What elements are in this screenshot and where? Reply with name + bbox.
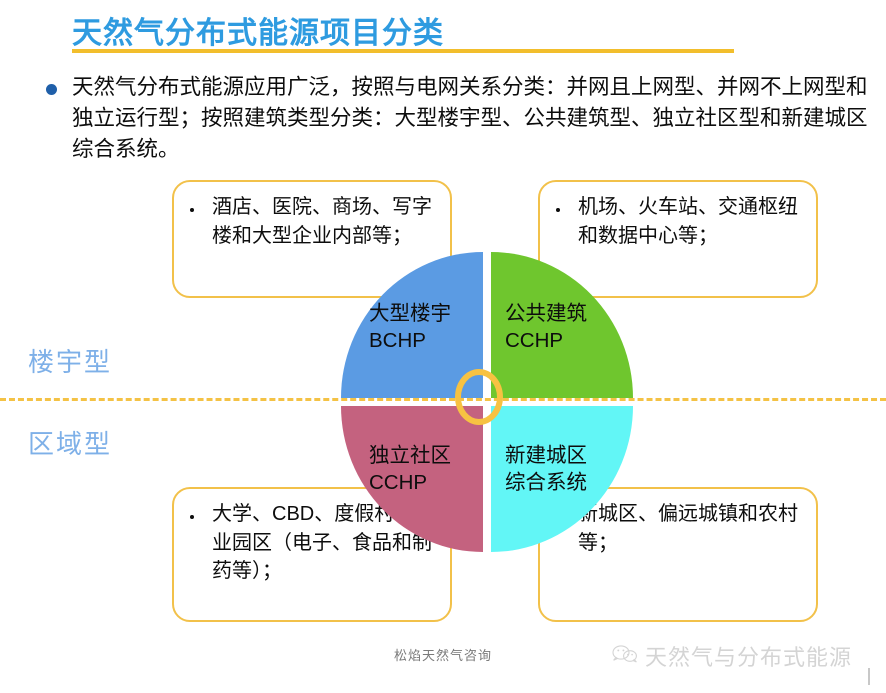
- callout-text-top-right: 机场、火车站、交通枢纽和数据中心等；: [578, 193, 803, 250]
- pie-quadrant-newtown-system[interactable]: 新建城区 综合系统: [491, 406, 633, 552]
- side-label-building-type: 楼宇型: [28, 342, 112, 379]
- callout-bullet-icon: [190, 515, 194, 519]
- pie-quadrant-label: 新建城区 综合系统: [505, 442, 587, 496]
- callout-text-top-left: 酒店、医院、商场、写字楼和大型企业内部等；: [212, 193, 437, 250]
- title-underline-rule: [72, 49, 734, 53]
- wechat-watermark: 天然气与分布式能源: [612, 640, 852, 672]
- pie-quadrant-label: 大型楼宇 BCHP: [369, 300, 451, 354]
- pie-quadrant-public-cchp[interactable]: 公共建筑 CCHP: [491, 252, 633, 398]
- pie-quadrant-label: 公共建筑 CCHP: [505, 300, 587, 354]
- watermark-text: 天然气与分布式能源: [645, 640, 852, 672]
- slide-canvas: 天然气分布式能源项目分类 天然气分布式能源应用广泛，按照与电网关系分类：并网且上…: [0, 0, 886, 693]
- pie-quadrant-community-cchp[interactable]: 独立社区 CCHP: [341, 406, 483, 552]
- lead-bullet-text: 天然气分布式能源应用广泛，按照与电网关系分类：并网且上网型、并网不上网型和独立运…: [72, 72, 872, 165]
- watermark-tick-mark: [868, 668, 870, 685]
- callout-bullet-icon: [190, 208, 194, 212]
- wechat-logo-icon: [612, 644, 638, 669]
- bullet-dot-icon: [46, 84, 57, 95]
- pie-center-ring-icon: [455, 369, 503, 425]
- side-label-district-type: 区域型: [28, 424, 112, 461]
- page-title: 天然气分布式能源项目分类: [72, 8, 444, 52]
- callout-bullet-icon: [556, 208, 560, 212]
- pie-quadrant-label: 独立社区 CCHP: [369, 442, 451, 496]
